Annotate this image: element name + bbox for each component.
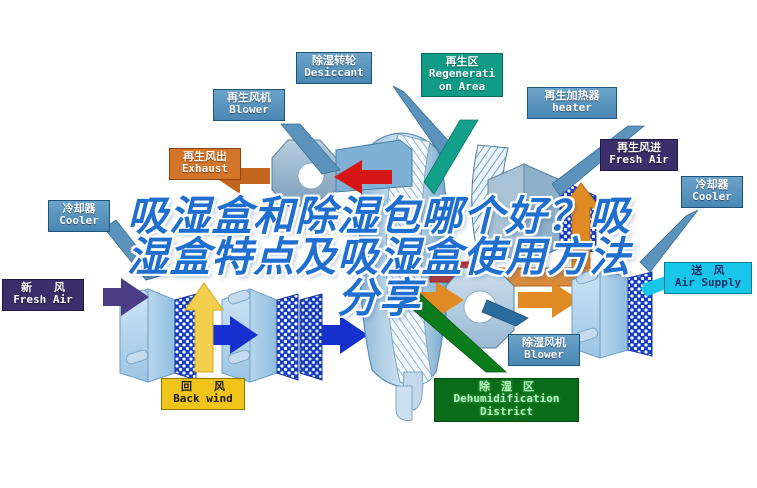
label-air-supply-en: Air Supply <box>669 277 747 289</box>
dehumidifier-schematic <box>0 0 757 488</box>
label-regeneration-blower[interactable]: 再生风机 Blower <box>213 89 285 121</box>
label-regeneration-heater[interactable]: 再生加热器 heater <box>527 87 617 119</box>
label-cooler-right[interactable]: 冷却器 Cooler <box>681 176 743 208</box>
leader-cooler-left <box>104 220 160 280</box>
label-regeneration-area-en: Regenerati on Area <box>426 68 498 93</box>
label-dehumidification-blower[interactable]: 除湿风机 Blower <box>508 334 580 366</box>
label-air-supply[interactable]: 送 风 Air Supply <box>664 262 752 294</box>
label-fresh-air-inlet-en: Fresh Air <box>7 294 79 306</box>
label-dehumidification-blower-en: Blower <box>513 349 575 361</box>
label-fresh-air-inlet[interactable]: 新 风 Fresh Air <box>2 279 84 311</box>
label-exhaust-en: Exhaust <box>174 163 236 175</box>
label-cooler-left-en: Cooler <box>53 215 105 227</box>
supply-coil <box>572 268 652 358</box>
label-regeneration-heater-en: heater <box>532 102 612 114</box>
label-regeneration-air-inlet-en: Fresh Air <box>605 154 673 166</box>
rotor-housing <box>300 294 322 380</box>
label-dehumidification-district-en: Dehumidification District <box>439 393 574 418</box>
label-regeneration-air-inlet[interactable]: 再生风进 Fresh Air <box>600 139 678 171</box>
label-back-wind-en: Back wind <box>166 393 240 405</box>
label-desiccant-wheel-en: Desiccant <box>301 67 367 79</box>
label-cooler-left[interactable]: 冷却器 Cooler <box>48 200 110 232</box>
label-exhaust[interactable]: 再生风出 Exhaust <box>169 148 241 180</box>
label-dehumidification-district[interactable]: 除 湿 区 Dehumidification District <box>434 378 579 422</box>
label-regeneration-blower-en: Blower <box>218 104 280 116</box>
diagram-canvas: 除湿转轮 Desiccant 再生风机 Blower 再生区 Regenerat… <box>0 0 757 488</box>
label-regeneration-area[interactable]: 再生区 Regenerati on Area <box>421 53 503 97</box>
label-desiccant-wheel[interactable]: 除湿转轮 Desiccant <box>296 52 372 84</box>
label-back-wind[interactable]: 回 风 Back wind <box>161 378 245 410</box>
rotor-out-arrow <box>518 282 580 318</box>
label-cooler-right-en: Cooler <box>686 191 738 203</box>
